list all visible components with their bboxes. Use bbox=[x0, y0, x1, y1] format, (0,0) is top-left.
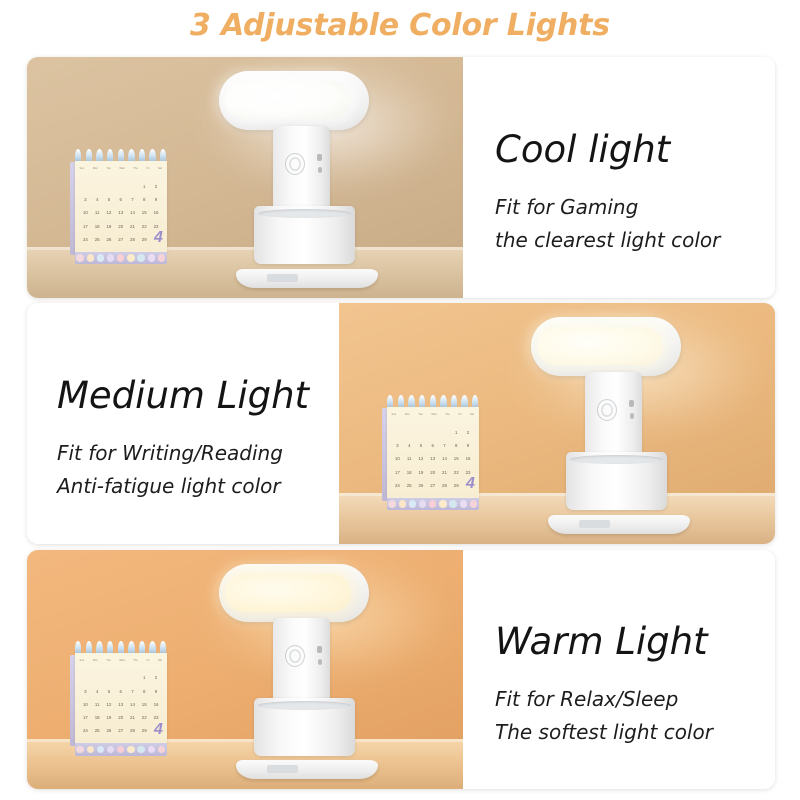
calendar-tab bbox=[449, 500, 456, 507]
panel-cool: SunMonTueWedThuFriSat 123456789101112131… bbox=[27, 57, 775, 298]
calendar-date-cell: 16 bbox=[466, 456, 471, 461]
calendar-date-cell: 26 bbox=[106, 728, 111, 733]
touch-sensor-icon bbox=[285, 645, 305, 667]
calendar-tab bbox=[76, 746, 83, 753]
calendar-tab bbox=[429, 500, 436, 507]
calendar-weekday-row: SunMonTueWedThuFriSat bbox=[80, 167, 162, 175]
calendar-tab bbox=[97, 746, 104, 753]
usb-port-icon bbox=[317, 646, 322, 653]
calendar-date-cell: 4 bbox=[96, 197, 98, 202]
calendar-date-cell: 5 bbox=[108, 197, 110, 202]
calendar-date-cell: 29 bbox=[142, 237, 147, 242]
calendar-date-cell: 29 bbox=[454, 483, 459, 488]
calendar-date-cell: 17 bbox=[83, 715, 88, 720]
calendar-date-cell: 12 bbox=[418, 456, 423, 461]
calendar-tab bbox=[388, 500, 395, 507]
calendar-tab bbox=[439, 500, 446, 507]
calendar-tab bbox=[137, 746, 144, 753]
calendar-date-cell: 27 bbox=[430, 483, 435, 488]
calendar-date-cell: 2 bbox=[155, 675, 157, 680]
calendar-date-cell: 22 bbox=[142, 715, 147, 720]
calendar-date-cell: 21 bbox=[442, 470, 447, 475]
calendar-tab bbox=[470, 500, 477, 507]
calendar-date-cell: 24 bbox=[395, 483, 400, 488]
panel-warm: SunMonTueWedThuFriSat 123456789101112131… bbox=[27, 550, 775, 789]
lamp-base bbox=[236, 760, 378, 779]
calendar-weekday: Fri bbox=[458, 413, 461, 421]
calendar-date-cell: 1 bbox=[455, 430, 457, 435]
calendar-date-cell: 8 bbox=[143, 689, 145, 694]
calendar-month-number: 4 bbox=[466, 476, 475, 492]
calendar-date-cell: 27 bbox=[118, 728, 123, 733]
calendar-page: SunMonTueWedThuFriSat 123456789101112131… bbox=[75, 653, 167, 742]
calendar-date-cell: 4 bbox=[408, 443, 410, 448]
calendar-tab bbox=[107, 746, 114, 753]
led-desk-lamp bbox=[219, 71, 428, 288]
calendar-page: SunMonTueWedThuFriSat 123456789101112131… bbox=[75, 161, 167, 251]
calendar-date-cell: 14 bbox=[442, 456, 447, 461]
calendar-tab-strip bbox=[75, 252, 167, 265]
calendar-date-cell: 16 bbox=[154, 210, 159, 215]
calendar-tab bbox=[460, 500, 467, 507]
panel-heading-medium: Medium Light bbox=[57, 375, 313, 418]
calendar-date-cell: 11 bbox=[407, 456, 412, 461]
desk-calendar: SunMonTueWedThuFriSat 123456789101112131… bbox=[75, 641, 167, 756]
calendar-date-cell: 12 bbox=[106, 210, 111, 215]
calendar-tab bbox=[127, 746, 134, 753]
calendar-date-cell: 28 bbox=[130, 237, 135, 242]
calendar-weekday: Sun bbox=[392, 413, 397, 421]
panel-line1-medium: Fit for Writing/Reading bbox=[57, 437, 313, 469]
panel-heading-warm: Warm Light bbox=[495, 621, 749, 664]
calendar-weekday: Sun bbox=[80, 167, 85, 175]
calendar-date-cell: 10 bbox=[395, 456, 400, 461]
lamp-head bbox=[219, 71, 370, 130]
text-pane-medium: Medium Light Fit for Writing/Reading Ant… bbox=[27, 303, 339, 544]
panel-line2-medium: Anti-fatigue light color bbox=[57, 470, 313, 502]
calendar-date-cell: 22 bbox=[454, 470, 459, 475]
calendar-tab bbox=[148, 254, 155, 261]
calendar-date-cell: 18 bbox=[407, 470, 412, 475]
calendar-date-cell: 9 bbox=[467, 443, 469, 448]
calendar-date-cell: 23 bbox=[154, 715, 159, 720]
base-indicator bbox=[579, 520, 610, 527]
calendar-weekday: Sat bbox=[158, 659, 162, 667]
calendar-tab bbox=[158, 254, 165, 261]
calendar-date-cell: 19 bbox=[106, 715, 111, 720]
calendar-date-cell: 7 bbox=[131, 197, 133, 202]
led-desk-lamp bbox=[531, 317, 740, 534]
calendar-weekday: Sat bbox=[470, 413, 474, 421]
calendar-tab bbox=[87, 746, 94, 753]
calendar-weekday: Wed bbox=[119, 659, 124, 667]
calendar-date-cell: 15 bbox=[142, 210, 147, 215]
calendar-date-cell: 22 bbox=[142, 224, 147, 229]
calendar-date-cell: 2 bbox=[467, 430, 469, 435]
calendar-date-cell: 14 bbox=[130, 210, 135, 215]
calendar-date-cell: 12 bbox=[106, 702, 111, 707]
calendar-weekday-row: SunMonTueWedThuFriSat bbox=[392, 413, 474, 421]
calendar-date-cell: 11 bbox=[95, 210, 100, 215]
lamp-base bbox=[548, 515, 690, 535]
calendar-date-cell: 27 bbox=[118, 237, 123, 242]
calendar-weekday: Mon bbox=[93, 167, 98, 175]
calendar-page: SunMonTueWedThuFriSat 123456789101112131… bbox=[387, 407, 479, 497]
calendar-date-cell: 13 bbox=[118, 210, 123, 215]
calendar-date-grid: 1234567891011121314151617181920212223242… bbox=[80, 179, 162, 246]
calendar-date-cell: 8 bbox=[455, 443, 457, 448]
calendar-date-cell: 13 bbox=[118, 702, 123, 707]
product-photo-cool: SunMonTueWedThuFriSat 123456789101112131… bbox=[27, 57, 463, 298]
calendar-date-grid: 1234567891011121314151617181920212223242… bbox=[80, 671, 162, 737]
calendar-date-cell: 28 bbox=[442, 483, 447, 488]
pen-holder bbox=[254, 698, 354, 756]
calendar-date-cell: 5 bbox=[420, 443, 422, 448]
calendar-date-cell: 5 bbox=[108, 689, 110, 694]
calendar-tab bbox=[107, 254, 114, 261]
calendar-date-cell: 29 bbox=[142, 728, 147, 733]
calendar-tab bbox=[137, 254, 144, 261]
calendar-date-cell: 10 bbox=[83, 702, 88, 707]
calendar-tab bbox=[148, 746, 155, 753]
pen-holder bbox=[566, 452, 666, 511]
calendar-date-cell: 6 bbox=[431, 443, 433, 448]
panel-line2-cool: the clearest light color bbox=[495, 224, 749, 256]
calendar-date-cell: 19 bbox=[418, 470, 423, 475]
calendar-date-cell: 7 bbox=[131, 689, 133, 694]
calendar-tab-strip bbox=[387, 498, 479, 511]
lamp-head bbox=[219, 564, 370, 622]
calendar-date-cell: 4 bbox=[96, 689, 98, 694]
calendar-date-cell: 26 bbox=[418, 483, 423, 488]
calendar-tab bbox=[399, 500, 406, 507]
calendar-date-cell: 7 bbox=[443, 443, 445, 448]
calendar-weekday: Tue bbox=[106, 659, 110, 667]
indicator-dot-icon bbox=[318, 659, 323, 664]
calendar-weekday: Sat bbox=[158, 167, 162, 175]
calendar-date-cell: 20 bbox=[430, 470, 435, 475]
calendar-date-cell: 21 bbox=[130, 224, 135, 229]
calendar-weekday: Thu bbox=[133, 659, 137, 667]
lamp-light-panel bbox=[537, 327, 664, 366]
calendar-date-cell: 3 bbox=[84, 197, 86, 202]
calendar-tab bbox=[97, 254, 104, 261]
calendar-weekday: Fri bbox=[146, 659, 149, 667]
calendar-date-cell: 28 bbox=[130, 728, 135, 733]
calendar-weekday: Tue bbox=[418, 413, 422, 421]
lamp-light-panel bbox=[225, 81, 352, 120]
calendar-weekday: Fri bbox=[146, 167, 149, 175]
calendar-tab bbox=[76, 254, 83, 261]
calendar-date-cell: 3 bbox=[84, 689, 86, 694]
calendar-tab bbox=[419, 500, 426, 507]
calendar-date-cell: 25 bbox=[95, 237, 100, 242]
page-title: 3 Adjustable Color Lights bbox=[0, 8, 800, 43]
led-desk-lamp bbox=[219, 564, 428, 779]
calendar-date-cell: 24 bbox=[83, 728, 88, 733]
calendar-date-cell: 25 bbox=[407, 483, 412, 488]
desk-calendar: SunMonTueWedThuFriSat 123456789101112131… bbox=[75, 149, 167, 265]
text-pane-warm: Warm Light Fit for Relax/Sleep The softe… bbox=[463, 550, 775, 789]
panel-line1-warm: Fit for Relax/Sleep bbox=[495, 683, 749, 715]
calendar-date-cell: 14 bbox=[130, 702, 135, 707]
calendar-tab bbox=[117, 746, 124, 753]
infographic-page: 3 Adjustable Color Lights bbox=[0, 0, 800, 800]
calendar-tab bbox=[87, 254, 94, 261]
calendar-date-cell: 2 bbox=[155, 184, 157, 189]
calendar-date-cell: 8 bbox=[143, 197, 145, 202]
calendar-date-cell: 3 bbox=[396, 443, 398, 448]
calendar-weekday: Mon bbox=[405, 413, 410, 421]
usb-port-icon bbox=[317, 154, 322, 161]
touch-sensor-icon bbox=[285, 153, 305, 175]
usb-port-icon bbox=[629, 400, 634, 407]
panel-heading-cool: Cool light bbox=[495, 129, 749, 172]
lamp-head bbox=[531, 317, 682, 376]
panel-medium: SunMonTueWedThuFriSat 123456789101112131… bbox=[27, 303, 775, 544]
calendar-date-cell: 6 bbox=[119, 197, 121, 202]
calendar-date-cell: 10 bbox=[83, 210, 88, 215]
calendar-date-cell: 24 bbox=[83, 237, 88, 242]
indicator-dot-icon bbox=[630, 413, 635, 418]
calendar-weekday: Wed bbox=[431, 413, 436, 421]
lamp-light-panel bbox=[225, 574, 352, 612]
calendar-date-cell: 9 bbox=[155, 197, 157, 202]
calendar-date-cell: 17 bbox=[395, 470, 400, 475]
panel-line2-warm: The softest light color bbox=[495, 716, 749, 748]
calendar-weekday-row: SunMonTueWedThuFriSat bbox=[80, 659, 162, 667]
calendar-date-cell: 23 bbox=[154, 224, 159, 229]
calendar-date-cell: 18 bbox=[95, 715, 100, 720]
calendar-tab bbox=[117, 254, 124, 261]
calendar-date-cell: 19 bbox=[106, 224, 111, 229]
calendar-tab-strip bbox=[75, 743, 167, 756]
calendar-date-cell: 1 bbox=[143, 675, 145, 680]
calendar-date-cell: 23 bbox=[466, 470, 471, 475]
desk-calendar: SunMonTueWedThuFriSat 123456789101112131… bbox=[387, 395, 479, 511]
calendar-tab bbox=[409, 500, 416, 507]
product-photo-warm: SunMonTueWedThuFriSat 123456789101112131… bbox=[27, 550, 463, 789]
calendar-weekday: Wed bbox=[119, 167, 124, 175]
calendar-date-cell: 17 bbox=[83, 224, 88, 229]
calendar-date-cell: 20 bbox=[118, 224, 123, 229]
text-pane-cool: Cool light Fit for Gaming the clearest l… bbox=[463, 57, 775, 298]
touch-sensor-icon bbox=[597, 399, 617, 421]
calendar-date-grid: 1234567891011121314151617181920212223242… bbox=[392, 425, 474, 492]
base-indicator bbox=[267, 765, 298, 772]
calendar-month-number: 4 bbox=[154, 230, 163, 246]
calendar-weekday: Tue bbox=[106, 167, 110, 175]
calendar-month-number: 4 bbox=[154, 722, 163, 738]
base-indicator bbox=[267, 274, 298, 281]
calendar-date-cell: 16 bbox=[154, 702, 159, 707]
lamp-base bbox=[236, 269, 378, 289]
calendar-date-cell: 9 bbox=[155, 689, 157, 694]
calendar-date-cell: 20 bbox=[118, 715, 123, 720]
indicator-dot-icon bbox=[318, 167, 323, 172]
calendar-date-cell: 21 bbox=[130, 715, 135, 720]
calendar-date-cell: 15 bbox=[454, 456, 459, 461]
calendar-date-cell: 18 bbox=[95, 224, 100, 229]
calendar-tab bbox=[127, 254, 134, 261]
calendar-date-cell: 25 bbox=[95, 728, 100, 733]
calendar-weekday: Thu bbox=[445, 413, 449, 421]
calendar-tab bbox=[158, 746, 165, 753]
calendar-weekday: Thu bbox=[133, 167, 137, 175]
pen-holder bbox=[254, 206, 354, 265]
calendar-weekday: Sun bbox=[80, 659, 85, 667]
calendar-date-cell: 11 bbox=[95, 702, 100, 707]
calendar-date-cell: 26 bbox=[106, 237, 111, 242]
calendar-date-cell: 13 bbox=[430, 456, 435, 461]
calendar-date-cell: 6 bbox=[119, 689, 121, 694]
product-photo-medium: SunMonTueWedThuFriSat 123456789101112131… bbox=[339, 303, 775, 544]
calendar-date-cell: 15 bbox=[142, 702, 147, 707]
calendar-date-cell: 1 bbox=[143, 184, 145, 189]
calendar-weekday: Mon bbox=[93, 659, 98, 667]
panel-line1-cool: Fit for Gaming bbox=[495, 191, 749, 223]
